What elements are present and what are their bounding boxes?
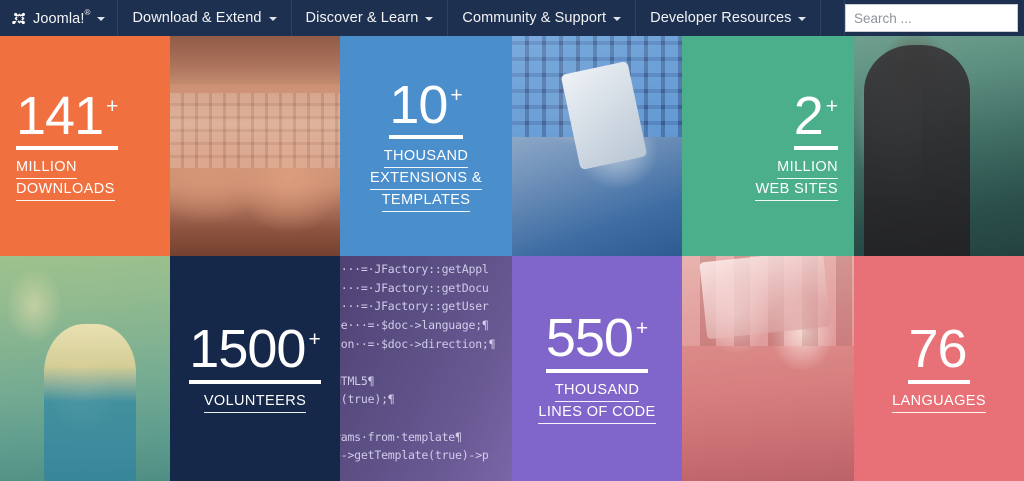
stat-number-row: 550+ bbox=[546, 313, 648, 372]
chevron-down-icon bbox=[613, 17, 621, 21]
phone-in-hand-photo bbox=[512, 36, 682, 256]
nav-item-joomla-brand[interactable]: Joomla!® bbox=[0, 0, 118, 36]
stat-number-row: 141+ bbox=[16, 91, 118, 150]
stat-number: 550 bbox=[546, 308, 633, 368]
photo-tile-phone-in-hand bbox=[512, 36, 682, 256]
stat-label-line: LANGUAGES bbox=[892, 391, 986, 413]
crowd-of-people-photo bbox=[0, 256, 170, 481]
stat-label[interactable]: VOLUNTEERS bbox=[186, 391, 324, 413]
stat-plus-sign: + bbox=[308, 328, 320, 351]
stat-tile-extensions: 10+ THOUSAND EXTENSIONS & TEMPLATES bbox=[340, 36, 512, 256]
stat-label-line: MILLION bbox=[16, 157, 77, 179]
stat-tile-websites: 2+ MILLION WEB SITES bbox=[682, 36, 854, 256]
stat-label[interactable]: LANGUAGES bbox=[870, 391, 1008, 413]
stat-plus-sign: + bbox=[450, 84, 462, 107]
stat-number: 2 bbox=[794, 86, 823, 146]
nav-item-community-and-support[interactable]: Community & Support bbox=[448, 0, 636, 36]
stat-number: 76 bbox=[908, 319, 966, 379]
stat-label-line: EXTENSIONS & bbox=[370, 168, 482, 190]
tablet-group-photo bbox=[682, 256, 854, 481]
stat-label-line: TEMPLATES bbox=[382, 190, 471, 212]
stat-plus-sign: + bbox=[106, 95, 118, 118]
laptop-keyboard-shape bbox=[170, 93, 340, 168]
code-texture-tile: ····=·JFactory::getAppl ····=·JFactory::… bbox=[340, 256, 512, 481]
photo-tile-hands-on-laptop bbox=[170, 36, 340, 256]
chevron-down-icon bbox=[798, 17, 806, 21]
php-code-texture: ····=·JFactory::getAppl ····=·JFactory::… bbox=[340, 256, 512, 481]
stat-number: 141 bbox=[16, 86, 103, 146]
nav-item-developer-resources[interactable]: Developer Resources bbox=[636, 0, 821, 36]
stat-number-row: 1500+ bbox=[189, 324, 320, 383]
stat-number-row: 10+ bbox=[389, 80, 462, 139]
stat-content: 141+ MILLION DOWNLOADS bbox=[0, 91, 170, 201]
stat-label[interactable]: MILLION WEB SITES bbox=[698, 157, 838, 201]
nav-item-label: Discover & Learn bbox=[306, 10, 419, 26]
tablet-device-shape bbox=[699, 256, 830, 339]
search-container bbox=[845, 0, 1024, 36]
photo-tile-tablet-group bbox=[682, 256, 854, 481]
man-in-suit-photo bbox=[854, 36, 1024, 256]
joomla-logo-icon bbox=[12, 11, 27, 26]
stat-number-row: 2+ bbox=[794, 91, 838, 150]
nav-item-label: Community & Support bbox=[462, 10, 606, 26]
hands-on-laptop-photo bbox=[170, 36, 340, 256]
stat-label-line: DOWNLOADS bbox=[16, 179, 115, 201]
stat-content: 10+ THOUSAND EXTENSIONS & TEMPLATES bbox=[340, 80, 512, 212]
stat-tile-volunteers: 1500+ VOLUNTEERS bbox=[170, 256, 340, 481]
stat-tile-lines-of-code: 550+ THOUSAND LINES OF CODE bbox=[512, 256, 682, 481]
stat-label-line: WEB SITES bbox=[755, 179, 838, 201]
nav-item-label: Download & Extend bbox=[132, 10, 261, 26]
stat-content: 1500+ VOLUNTEERS bbox=[170, 324, 340, 412]
stat-number-row: 76 bbox=[908, 324, 969, 383]
laptop-lid-shape bbox=[170, 36, 340, 84]
photo-tile-man-in-suit bbox=[854, 36, 1024, 256]
person-silhouette-shape bbox=[864, 45, 969, 256]
photo-tile-crowd-of-people bbox=[0, 256, 170, 481]
nav-item-discover-and-learn[interactable]: Discover & Learn bbox=[292, 0, 449, 36]
stat-label-line: THOUSAND bbox=[384, 146, 469, 168]
top-navigation-bar: Joomla!® Download & Extend Discover & Le… bbox=[0, 0, 1024, 36]
stat-label-line: LINES OF CODE bbox=[538, 402, 655, 424]
nav-brand-label: Joomla!® bbox=[33, 10, 90, 27]
stat-label-line: MILLION bbox=[777, 157, 838, 179]
chevron-down-icon bbox=[425, 17, 433, 21]
stat-label[interactable]: THOUSAND LINES OF CODE bbox=[528, 380, 666, 424]
stat-number: 1500 bbox=[189, 319, 305, 379]
stat-tile-downloads: 141+ MILLION DOWNLOADS bbox=[0, 36, 170, 256]
chevron-down-icon bbox=[269, 17, 277, 21]
stat-content: 76 LANGUAGES bbox=[854, 324, 1024, 412]
stat-label[interactable]: MILLION DOWNLOADS bbox=[16, 157, 154, 201]
nav-item-label: Developer Resources bbox=[650, 10, 791, 26]
person-shape bbox=[44, 324, 136, 481]
stat-content: 550+ THOUSAND LINES OF CODE bbox=[512, 313, 682, 423]
statistics-tile-grid: 141+ MILLION DOWNLOADS 10+ THOUSAND EXTE… bbox=[0, 36, 1024, 481]
code-snippet-text: ····=·JFactory::getAppl ····=·JFactory::… bbox=[340, 260, 512, 481]
stat-label-line: THOUSAND bbox=[555, 380, 640, 402]
navbar-spacer bbox=[821, 0, 845, 36]
stat-number: 10 bbox=[389, 75, 447, 135]
stat-tile-languages: 76 LANGUAGES bbox=[854, 256, 1024, 481]
stat-content: 2+ MILLION WEB SITES bbox=[682, 91, 854, 201]
stat-plus-sign: + bbox=[636, 317, 648, 340]
chevron-down-icon bbox=[97, 17, 105, 21]
stat-plus-sign: + bbox=[826, 95, 838, 118]
stat-label-line: VOLUNTEERS bbox=[204, 391, 306, 413]
stat-label[interactable]: THOUSAND EXTENSIONS & TEMPLATES bbox=[356, 146, 496, 212]
nav-item-download-and-extend[interactable]: Download & Extend bbox=[118, 0, 291, 36]
search-input[interactable] bbox=[845, 4, 1018, 32]
